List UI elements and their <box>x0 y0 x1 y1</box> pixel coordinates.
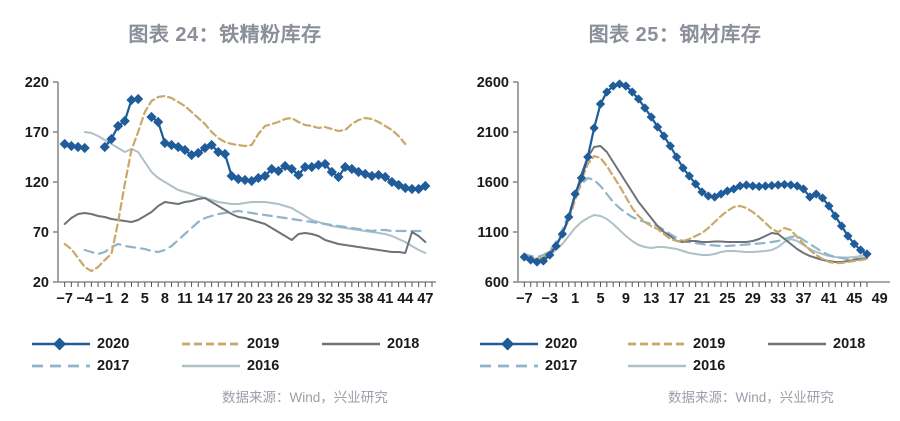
x-tick-label: 35 <box>337 291 353 307</box>
page-title-25: 图表 25：钢材库存 <box>450 18 900 47</box>
x-tick-label: 14 <box>197 291 213 307</box>
legend-25: 2020 2019 2018 <box>478 333 900 377</box>
source-note-24: 数据来源：Wind，兴业研究 <box>222 386 388 406</box>
legend-swatch-2017-icon <box>30 359 92 373</box>
legend-row-1: 2020 2019 2018 <box>30 333 480 355</box>
legend-label-2016: 2016 <box>247 358 279 374</box>
y-tick-label: 1600 <box>477 175 509 191</box>
y-tick-label: 2600 <box>477 75 509 91</box>
x-tick-label: 1 <box>571 291 579 307</box>
source-note-25: 数据来源：Wind，兴业研究 <box>668 386 834 406</box>
legend-swatch-2019-icon <box>626 337 688 351</box>
y-tick-label: 2100 <box>477 125 509 141</box>
legend-item-2019[interactable]: 2019 <box>180 336 320 352</box>
series-markers-2020 <box>60 94 431 194</box>
x-tick-label: −7 <box>516 291 533 307</box>
legend-label-2018: 2018 <box>833 336 865 352</box>
series-line-2016 <box>85 132 426 253</box>
y-tick-label: 120 <box>25 175 49 191</box>
x-tick-label: 29 <box>745 291 761 307</box>
legend-label-2020: 2020 <box>97 336 129 352</box>
legend-swatch-2016-icon <box>180 359 242 373</box>
y-tick-label: 1100 <box>478 225 509 241</box>
legend-label-2018: 2018 <box>387 336 419 352</box>
x-tick-label: 5 <box>141 291 149 307</box>
x-tick-label: 33 <box>770 291 786 307</box>
x-tick-label: 13 <box>643 291 659 307</box>
x-tick-label: 41 <box>821 291 837 307</box>
x-tick-label: 5 <box>596 291 604 307</box>
legend-label-2019: 2019 <box>247 336 279 352</box>
x-tick-label: 49 <box>872 291 888 307</box>
line-chart-24: 2070120170220−7−4−1258111417202326293235… <box>0 66 450 326</box>
y-tick-label: 170 <box>25 125 49 141</box>
x-tick-label: −3 <box>541 291 558 307</box>
legend-item-2017[interactable]: 2017 <box>478 358 626 374</box>
legend-swatch-2020-icon <box>478 337 540 351</box>
y-tick-label: 70 <box>33 225 49 241</box>
charts-page: 图表 24：铁精粉库存 2070120170220−7−4−1258111417… <box>0 0 900 421</box>
legend-24: 2020 2019 2018 <box>30 333 480 377</box>
x-tick-label: 29 <box>297 291 313 307</box>
x-tick-label: 23 <box>257 291 273 307</box>
plot-area-25: 6001100160021002600−7−315913172125293337… <box>450 66 900 326</box>
x-tick-label: 32 <box>317 291 333 307</box>
chart-panel-24: 图表 24：铁精粉库存 2070120170220−7−4−1258111417… <box>0 0 450 421</box>
legend-row-1: 2020 2019 2018 <box>478 333 900 355</box>
legend-item-2019[interactable]: 2019 <box>626 336 766 352</box>
x-tick-label: −7 <box>56 291 73 307</box>
legend-row-2: 2017 2016 <box>30 355 480 377</box>
legend-swatch-2018-icon <box>766 337 828 351</box>
x-tick-label: 26 <box>277 291 293 307</box>
x-tick-label: 2 <box>121 291 129 307</box>
series-line-2018 <box>524 146 867 262</box>
legend-label-2020: 2020 <box>545 336 577 352</box>
x-tick-label: 11 <box>177 291 192 307</box>
x-tick-label: 25 <box>719 291 735 307</box>
page-title-24: 图表 24：铁精粉库存 <box>0 18 450 47</box>
legend-swatch-2020-icon <box>30 337 92 351</box>
legend-swatch-2017-icon <box>478 359 540 373</box>
x-tick-label: 20 <box>237 291 253 307</box>
y-tick-label: 20 <box>33 275 49 291</box>
legend-swatch-2016-icon <box>626 359 688 373</box>
legend-item-2020[interactable]: 2020 <box>478 336 626 352</box>
x-tick-label: 45 <box>846 291 862 307</box>
legend-item-2016[interactable]: 2016 <box>626 358 766 374</box>
x-tick-label: −1 <box>96 291 113 307</box>
legend-swatch-2018-icon <box>320 337 382 351</box>
legend-label-2017: 2017 <box>97 358 129 374</box>
legend-label-2019: 2019 <box>693 336 725 352</box>
x-tick-label: 21 <box>694 291 710 307</box>
series-markers-2020 <box>520 79 872 266</box>
x-tick-label: 41 <box>377 291 393 307</box>
legend-item-2020[interactable]: 2020 <box>30 336 180 352</box>
x-tick-label: 17 <box>669 291 685 307</box>
legend-label-2016: 2016 <box>693 358 725 374</box>
y-tick-label: 220 <box>25 75 49 91</box>
x-tick-label: 17 <box>217 291 233 307</box>
x-tick-label: 38 <box>357 291 373 307</box>
legend-item-2018[interactable]: 2018 <box>766 336 865 352</box>
plot-area-24: 2070120170220−7−4−1258111417202326293235… <box>0 66 450 326</box>
legend-swatch-2019-icon <box>180 337 242 351</box>
legend-item-2018[interactable]: 2018 <box>320 336 419 352</box>
chart-panel-25: 图表 25：钢材库存 6001100160021002600−7−3159131… <box>450 0 900 421</box>
x-tick-label: 9 <box>622 291 630 307</box>
line-chart-25: 6001100160021002600−7−315913172125293337… <box>450 66 900 326</box>
x-tick-label: −4 <box>76 291 93 307</box>
legend-item-2016[interactable]: 2016 <box>180 358 320 374</box>
x-tick-label: 37 <box>795 291 811 307</box>
legend-row-2: 2017 2016 <box>478 355 900 377</box>
legend-label-2017: 2017 <box>545 358 577 374</box>
legend-item-2017[interactable]: 2017 <box>30 358 180 374</box>
y-tick-label: 600 <box>485 275 509 291</box>
x-tick-label: 47 <box>417 291 433 307</box>
x-tick-label: 44 <box>397 291 413 307</box>
x-tick-label: 8 <box>161 291 169 307</box>
